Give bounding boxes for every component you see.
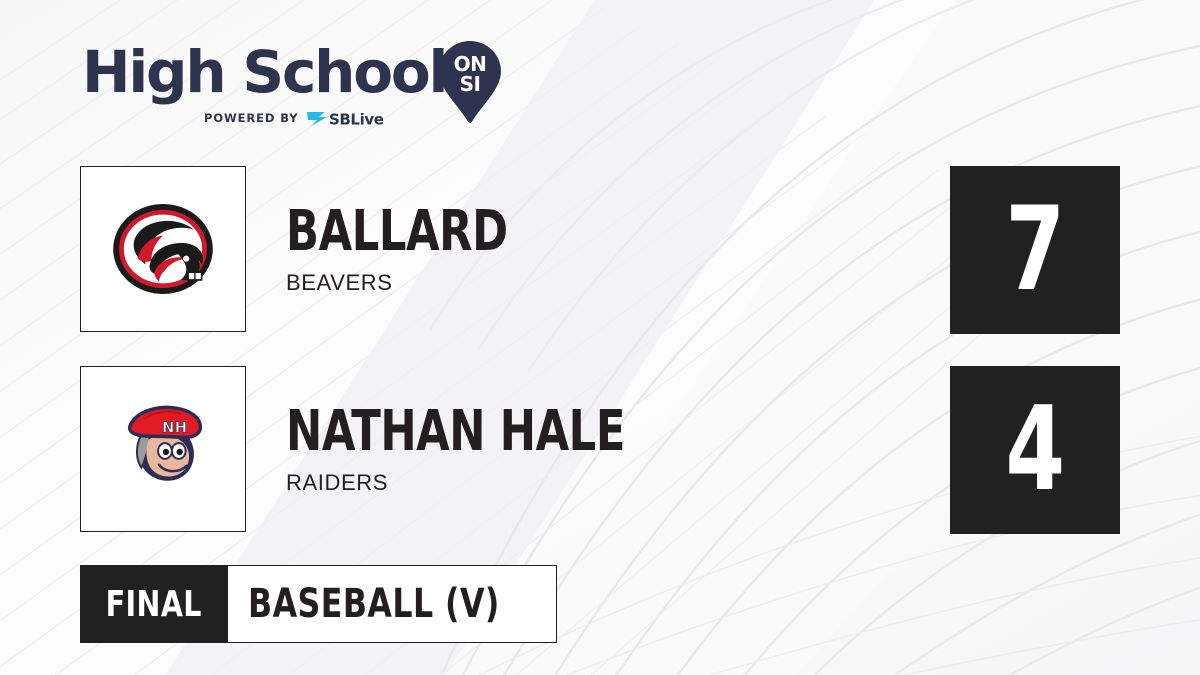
powered-by-row: POWERED BY SBLive — [204, 108, 401, 128]
team-score-box: 4 — [950, 366, 1120, 534]
scoreboard-graphic: High School ON SI POWERED BY SBLive — [0, 0, 1200, 675]
nathan-hale-raiders-logo: NH — [104, 390, 222, 508]
team-score-box: 7 — [950, 166, 1120, 334]
pin-bottom-label: SI — [460, 72, 481, 96]
team-score: 7 — [1006, 192, 1065, 308]
team-name: NATHAN HALE — [286, 403, 625, 461]
game-state-label: FINAL — [106, 584, 202, 625]
team-logo-card — [80, 166, 246, 332]
brand-lockup: High School ON SI POWERED BY SBLive — [82, 36, 512, 132]
sport-label: BASEBALL (V) — [248, 581, 500, 627]
ballard-beavers-logo — [105, 191, 221, 307]
team-mascot: BEAVERS — [286, 270, 544, 296]
on-si-pin-icon: ON SI — [434, 39, 506, 125]
powered-by-label: POWERED BY — [204, 111, 298, 125]
sport-label-box: BASEBALL (V) — [228, 565, 557, 643]
brand-wordmark: High School — [82, 36, 446, 108]
score-row: BALLARD BEAVERS 7 — [80, 166, 1120, 334]
team-name: BALLARD — [286, 203, 508, 261]
logo-initials: NH — [162, 419, 187, 436]
sblive-logo: SBLive — [305, 108, 401, 128]
team-score: 4 — [1006, 392, 1065, 508]
team-logo-card: NH — [80, 366, 246, 532]
sblive-wordmark: SBLive — [329, 111, 384, 129]
team-info: NATHAN HALE RAIDERS — [286, 366, 680, 532]
team-mascot: RAIDERS — [286, 470, 680, 496]
game-state-badge: FINAL — [80, 565, 228, 643]
game-status-bar: FINAL BASEBALL (V) — [80, 565, 557, 643]
score-row: NH NATHAN HALE RAIDERS 4 — [80, 366, 1120, 534]
team-info: BALLARD BEAVERS — [286, 166, 544, 332]
